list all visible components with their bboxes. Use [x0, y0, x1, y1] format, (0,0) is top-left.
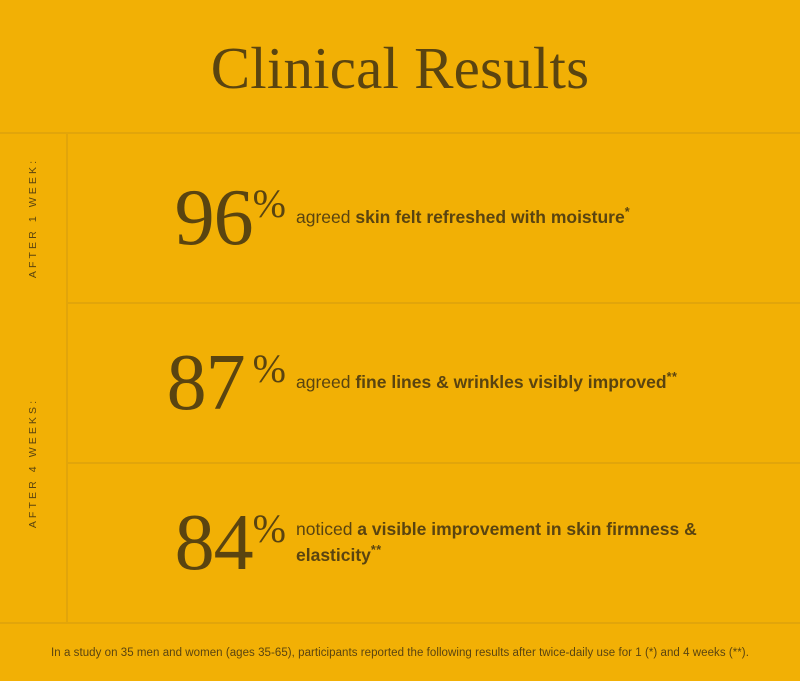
clinical-results-panel: Clinical Results AFTER 1 WEEK: AFTER 4 W…	[0, 0, 800, 681]
stat-description: agreed fine lines & wrinkles visibly imp…	[294, 370, 716, 396]
stat-description: agreed skin felt refreshed with moisture…	[294, 205, 716, 231]
stat-claim: fine lines & wrinkles visibly improved	[355, 372, 666, 392]
stat-lead: noticed	[296, 519, 357, 539]
stat-number: 96	[175, 174, 253, 262]
stat-figure: 84%	[68, 503, 294, 583]
stat-row: 96% agreed skin felt refreshed with mois…	[68, 134, 800, 302]
stat-row: 87% agreed fine lines & wrinkles visibly…	[68, 304, 800, 462]
stat-footnote-marker: *	[625, 205, 630, 219]
stat-footnote-marker: **	[667, 370, 678, 384]
stat-percent-symbol: %	[253, 509, 286, 549]
side-label-after-1-week: AFTER 1 WEEK:	[0, 134, 66, 302]
stat-claim: a visible improvement in skin firmness &…	[296, 519, 697, 565]
stat-description: noticed a visible improvement in skin fi…	[294, 517, 716, 569]
side-label-after-4-weeks-text: AFTER 4 WEEKS:	[27, 398, 39, 528]
stat-footnote-marker: **	[371, 543, 382, 557]
stat-figure: 96%	[68, 178, 294, 258]
stat-claim: skin felt refreshed with moisture	[355, 207, 624, 227]
page-title: Clinical Results	[211, 35, 590, 98]
stat-lead: agreed	[296, 207, 355, 227]
stat-number: 84	[175, 499, 253, 587]
title-band: Clinical Results	[0, 0, 800, 132]
side-label-after-1-week-text: AFTER 1 WEEK:	[27, 158, 39, 278]
stat-figure: 87%	[68, 343, 294, 423]
footnote-text: In a study on 35 men and women (ages 35-…	[51, 647, 749, 659]
stat-percent-symbol: %	[253, 349, 286, 389]
stat-percent-symbol: %	[253, 184, 286, 224]
stat-number: 87	[167, 339, 245, 427]
footnote: In a study on 35 men and women (ages 35-…	[0, 624, 800, 681]
stat-lead: agreed	[296, 372, 355, 392]
side-label-after-4-weeks: AFTER 4 WEEKS:	[0, 304, 66, 622]
stat-row: 84% noticed a visible improvement in ski…	[68, 464, 800, 622]
